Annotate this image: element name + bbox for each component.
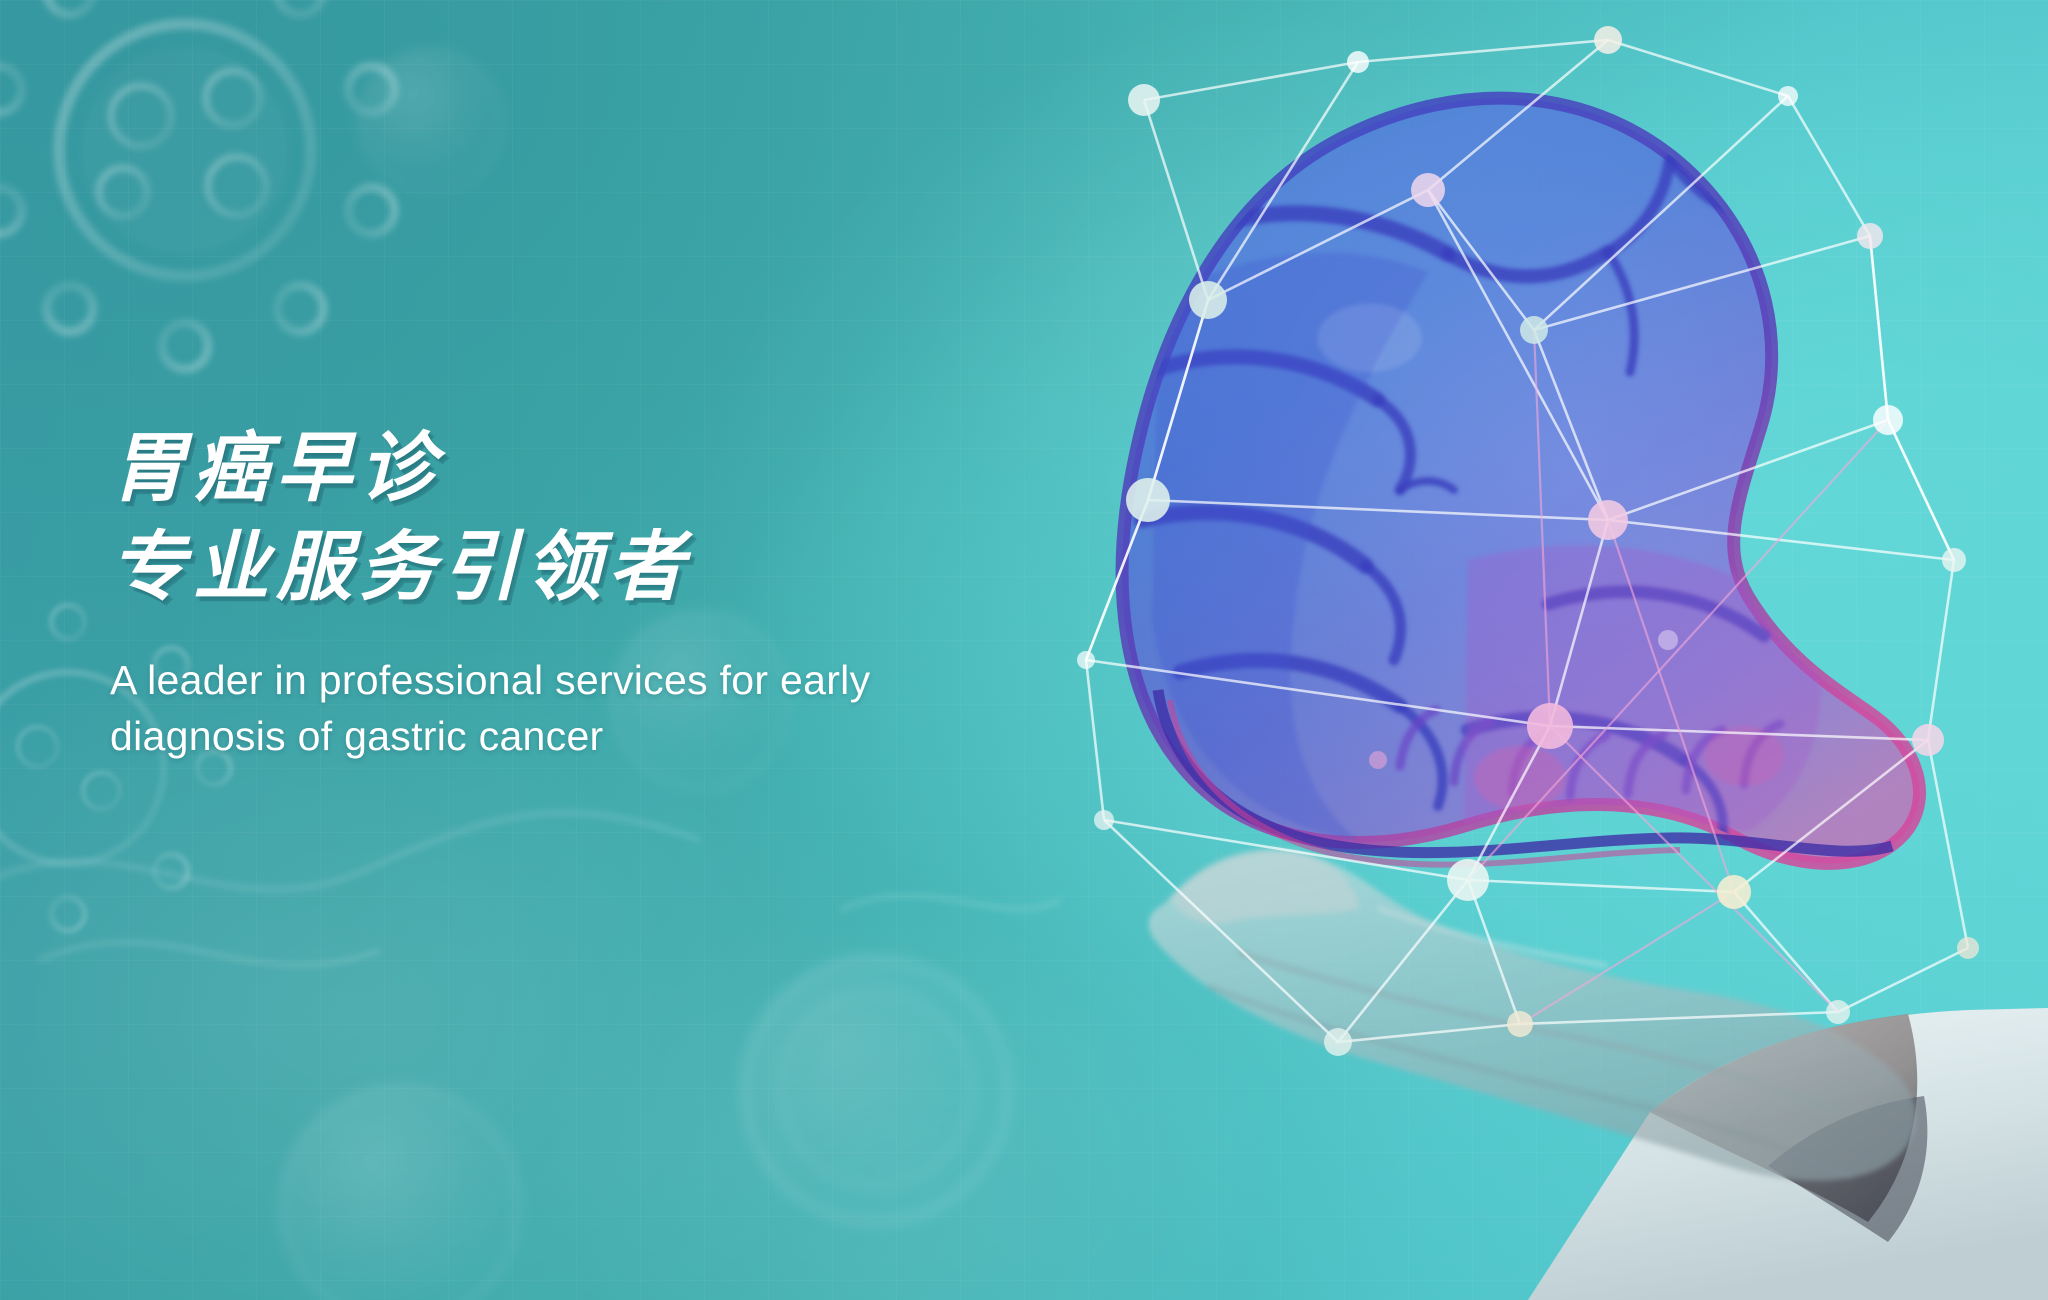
open-hand [1149, 849, 1917, 1181]
cell-bubble-bottom [282, 1087, 518, 1300]
subtitle-line-2: diagnosis of gastric cancer [110, 708, 1110, 765]
page-title: 胃癌早诊 专业服务引领者 [110, 420, 1110, 618]
cell-bubble-center [744, 958, 1008, 1222]
mesh-nodes [1077, 26, 1979, 1056]
headline-line-1: 胃癌早诊 [110, 420, 1110, 519]
stomach-hologram [1122, 98, 1919, 864]
virus-top-left [0, 0, 400, 369]
cell-bubble-upper [360, 50, 500, 190]
polygon-network-mesh [1077, 26, 1979, 1056]
subtitle-line-1: A leader in professional services for ea… [110, 652, 1110, 709]
strand-wisps [0, 813, 1060, 965]
headline-line-2: 专业服务引领者 [110, 519, 1110, 618]
hero-copy: 胃癌早诊 专业服务引领者 A leader in professional se… [110, 420, 1110, 765]
lab-coat-cuff [1528, 1008, 2048, 1300]
hero-banner: 胃癌早诊 专业服务引领者 A leader in professional se… [0, 0, 2048, 1300]
page-subtitle: A leader in professional services for ea… [110, 652, 1110, 765]
